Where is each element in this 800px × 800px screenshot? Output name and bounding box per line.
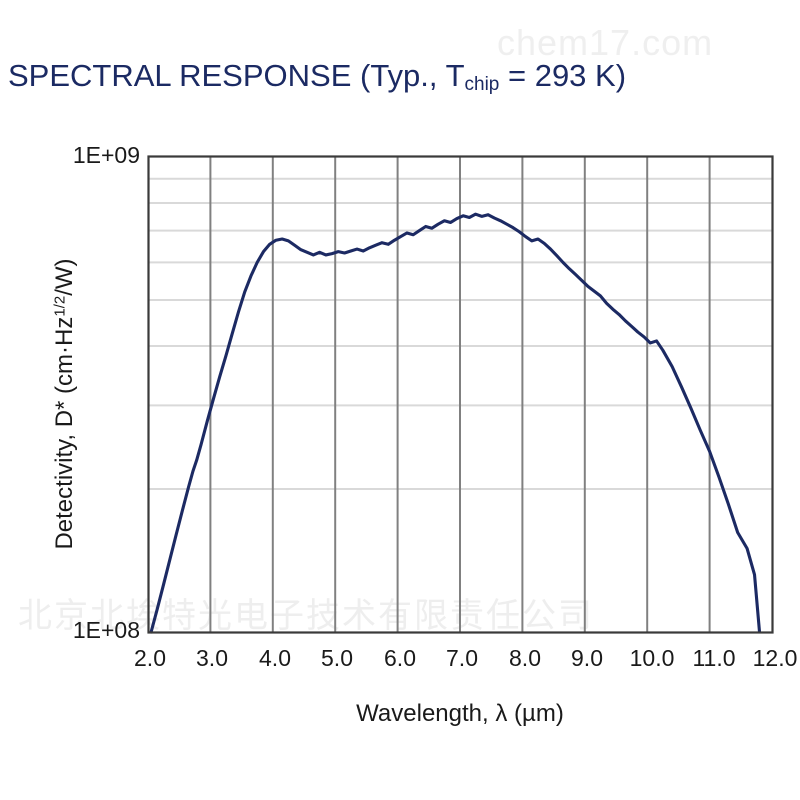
detectivity-curve: [151, 214, 759, 632]
plot-area: [0, 0, 800, 800]
spectral-response-figure: chem17.com 北京北埃特光电子技术有限责任公司 SPECTRAL RES…: [0, 0, 800, 800]
major-gridlines: [210, 157, 709, 632]
